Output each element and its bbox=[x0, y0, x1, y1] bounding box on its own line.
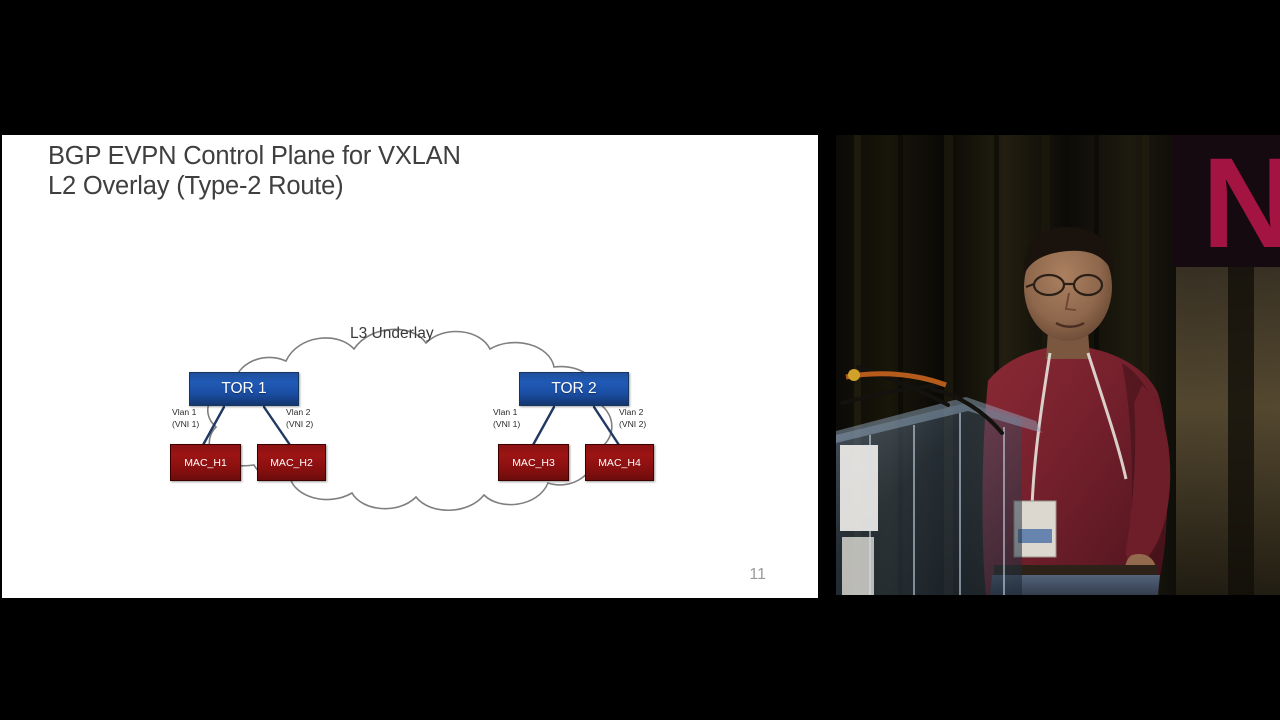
presentation-slide: BGP EVPN Control Plane for VXLAN L2 Over… bbox=[2, 135, 818, 598]
host-mac-h4-label: MAC_H4 bbox=[598, 457, 641, 469]
host-mac-h1[interactable]: MAC_H1 bbox=[170, 444, 241, 481]
host-mac-h1-label: MAC_H1 bbox=[184, 457, 227, 469]
banner-letter-n: N bbox=[1202, 135, 1280, 275]
host-mac-h2[interactable]: MAC_H2 bbox=[257, 444, 326, 481]
switch-tor-1-label: TOR 1 bbox=[221, 380, 266, 398]
video-player-stage: BGP EVPN Control Plane for VXLAN L2 Over… bbox=[0, 0, 1280, 720]
speaker-badge-stripe bbox=[1018, 529, 1052, 543]
letterbox-bottom bbox=[0, 598, 1280, 720]
host-mac-h3-label: MAC_H3 bbox=[512, 457, 555, 469]
switch-tor-2-label: TOR 2 bbox=[551, 380, 596, 398]
switch-tor-2[interactable]: TOR 2 bbox=[519, 372, 629, 406]
mic-connector bbox=[848, 369, 860, 381]
letterbox-top bbox=[0, 0, 1280, 135]
network-diagram: L3 Underlay TOR 1 TOR 2 Vlan 1 (VNI 1) V… bbox=[2, 135, 818, 598]
slide-page-number: 11 bbox=[749, 566, 766, 584]
wall-dark-column bbox=[1228, 253, 1254, 595]
switch-tor-1[interactable]: TOR 1 bbox=[189, 372, 299, 406]
podium-paper bbox=[840, 445, 878, 531]
connector-tor2-mac-h4 bbox=[594, 407, 619, 445]
vlan-label-tor1-vlan1: Vlan 1 (VNI 1) bbox=[172, 407, 199, 430]
connector-tor1-mac-h1 bbox=[203, 407, 224, 445]
host-mac-h3[interactable]: MAC_H3 bbox=[498, 444, 569, 481]
panel-divider bbox=[818, 135, 836, 598]
vlan-label-tor2-vlan2: Vlan 2 (VNI 2) bbox=[619, 407, 646, 430]
speaker-video-feed[interactable]: N bbox=[836, 135, 1280, 595]
vlan-label-tor2-vlan1: Vlan 1 (VNI 1) bbox=[493, 407, 520, 430]
acrylic-podium bbox=[836, 397, 1042, 595]
connector-tor2-mac-h3 bbox=[533, 407, 554, 445]
cloud-label: L3 Underlay bbox=[350, 325, 434, 343]
vlan-label-tor1-vlan2: Vlan 2 (VNI 2) bbox=[286, 407, 313, 430]
host-mac-h4[interactable]: MAC_H4 bbox=[585, 444, 654, 481]
connector-layer bbox=[2, 135, 818, 598]
host-mac-h2-label: MAC_H2 bbox=[270, 457, 313, 469]
speaker-scene: N bbox=[836, 135, 1280, 595]
